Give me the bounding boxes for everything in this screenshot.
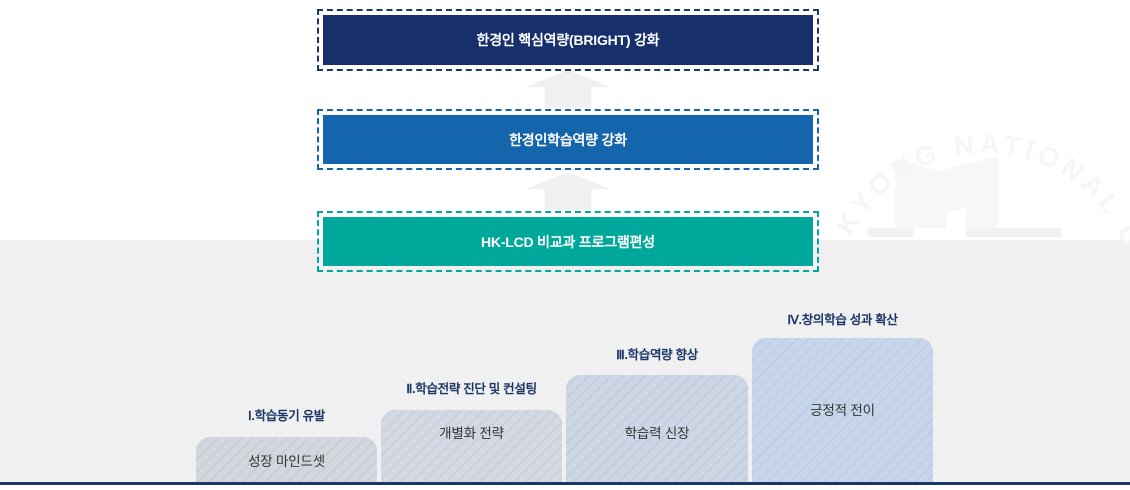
staircase-step-3-label: Ⅲ.학습역량 향상 [566, 344, 748, 363]
staircase-step-3-box: 학습력 신장 [566, 375, 748, 482]
pyramid-level-core-fill: 한경인 핵심역량(BRIGHT) 강화 [323, 15, 813, 65]
staircase-step-2-label: Ⅱ.학습전략 진단 및 컨설팅 [381, 378, 562, 397]
staircase-step-3-caption: 학습력 신장 [625, 422, 690, 442]
pyramid-level-program-label: HK-LCD 비교과 프로그램편성 [481, 232, 655, 252]
staircase-step-1-box: 성장 마인드셋 [196, 437, 377, 482]
staircase-step-4: Ⅳ.창의학습 성과 확산 긍정적 전이 [752, 309, 933, 482]
arrow-up-icon-core [526, 70, 610, 108]
pyramid-level-learning-label: 한경인학습역량 강화 [509, 130, 627, 150]
lower-background-band [0, 240, 1130, 482]
staircase-step-4-caption: 긍정적 전이 [810, 399, 875, 419]
staircase-step-2-caption: 개별화 전략 [439, 422, 504, 442]
staircase-step-3: Ⅲ.학습역량 향상 학습력 신장 [566, 344, 748, 482]
bottom-divider [0, 482, 1130, 485]
staircase-step-1: Ⅰ.학습동기 유발 성장 마인드셋 [196, 405, 377, 482]
pyramid-level-program: HK-LCD 비교과 프로그램편성 [317, 211, 819, 272]
pyramid-level-program-fill: HK-LCD 비교과 프로그램편성 [323, 217, 813, 266]
staircase-step-1-caption: 성장 마인드셋 [248, 450, 325, 470]
diagram-canvas: KYONG NATIONAL UNIVERS 한경인 핵심역량(BRIGHT) … [0, 0, 1130, 490]
staircase-step-4-box: 긍정적 전이 [752, 338, 933, 482]
staircase-step-1-label: Ⅰ.학습동기 유발 [196, 405, 377, 424]
staircase-step-4-label: Ⅳ.창의학습 성과 확산 [752, 309, 933, 328]
pyramid-level-learning-fill: 한경인학습역량 강화 [323, 115, 813, 164]
arrow-up-icon-learning [526, 172, 610, 210]
pyramid-level-learning: 한경인학습역량 강화 [317, 109, 819, 170]
pyramid-level-core: 한경인 핵심역량(BRIGHT) 강화 [317, 9, 819, 71]
pyramid-level-core-label: 한경인 핵심역량(BRIGHT) 강화 [477, 30, 660, 50]
university-watermark: KYONG NATIONAL UNIVERS [838, 78, 1130, 250]
staircase-step-2-box: 개별화 전략 [381, 410, 562, 482]
watermark-text: KYONG NATIONAL UNIVERS [838, 78, 1130, 250]
staircase-step-2: Ⅱ.학습전략 진단 및 컨설팅 개별화 전략 [381, 378, 562, 482]
